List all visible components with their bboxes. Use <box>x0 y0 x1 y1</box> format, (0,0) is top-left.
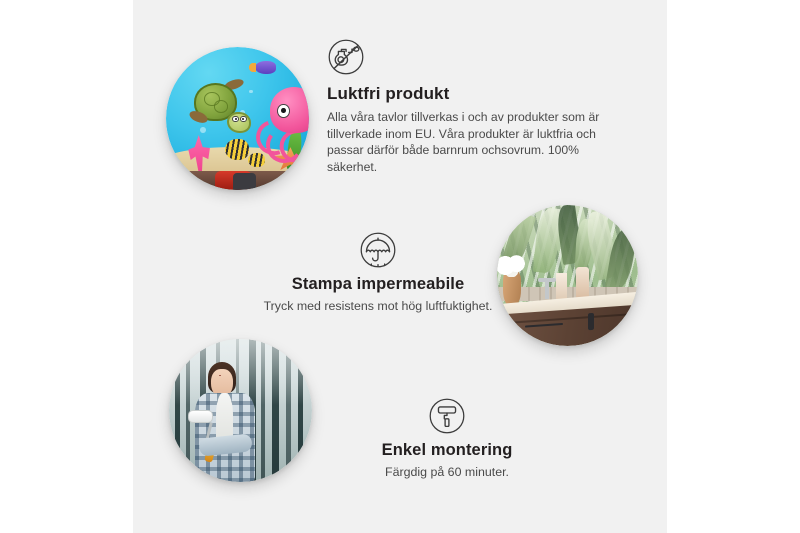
paint-roller-icon <box>428 397 466 435</box>
turtle-head <box>227 112 251 134</box>
underwater-cartoon-photo <box>166 47 309 190</box>
sea-foreground-dark-shape <box>233 173 256 190</box>
sea-turtle <box>189 83 249 134</box>
feature-odourless-body: Alla våra tavlor tillverkas i och av pro… <box>327 109 617 175</box>
woman-smile <box>219 375 221 376</box>
umbrella-rain-icon <box>359 231 397 269</box>
yellow-fish-small <box>248 153 265 167</box>
woman-paint-roller-forest-photo-inner <box>169 339 312 482</box>
octopus-eye <box>277 104 289 118</box>
drawer-handle <box>526 324 563 328</box>
cabinet-handle <box>589 313 595 330</box>
screenshot-root: Luktfri produkt Alla våra tavlor tillver… <box>0 0 800 533</box>
turtle-eye-right <box>240 116 247 123</box>
feature-mounting-title: Enkel montering <box>297 441 597 460</box>
feature-mounting-icon-wrap <box>297 397 597 435</box>
yellow-fish <box>225 139 249 160</box>
feature-odourless: Luktfri produkt Alla våra tavlor tillver… <box>327 38 617 175</box>
feature-mounting: Enkel montering Färgdig på 60 minuter. <box>297 397 597 481</box>
feature-waterproof-icon-wrap <box>208 231 548 269</box>
feature-odourless-icon-wrap <box>327 38 617 76</box>
feature-mounting-body: Färgdig på 60 minuter. <box>297 464 597 481</box>
blue-fish <box>255 61 276 74</box>
octopus-head <box>270 87 309 133</box>
feature-panel: Luktfri produkt Alla våra tavlor tillver… <box>133 0 667 533</box>
feature-waterproof-body: Tryck med resistens mot hög luftfuktighe… <box>208 298 548 315</box>
bubble-icon <box>249 90 253 94</box>
no-fragrance-icon <box>327 38 365 76</box>
feature-waterproof: Stampa impermeabile Tryck med resistens … <box>208 231 548 315</box>
turtle-eye-left <box>232 116 239 123</box>
feature-waterproof-title: Stampa impermeabile <box>208 275 548 294</box>
woman-figure <box>192 362 264 482</box>
woman-paint-roller-forest-photo <box>169 339 312 482</box>
feature-odourless-title: Luktfri produkt <box>327 84 617 104</box>
underwater-cartoon-photo-inner <box>166 47 309 190</box>
pink-octopus <box>255 87 309 151</box>
